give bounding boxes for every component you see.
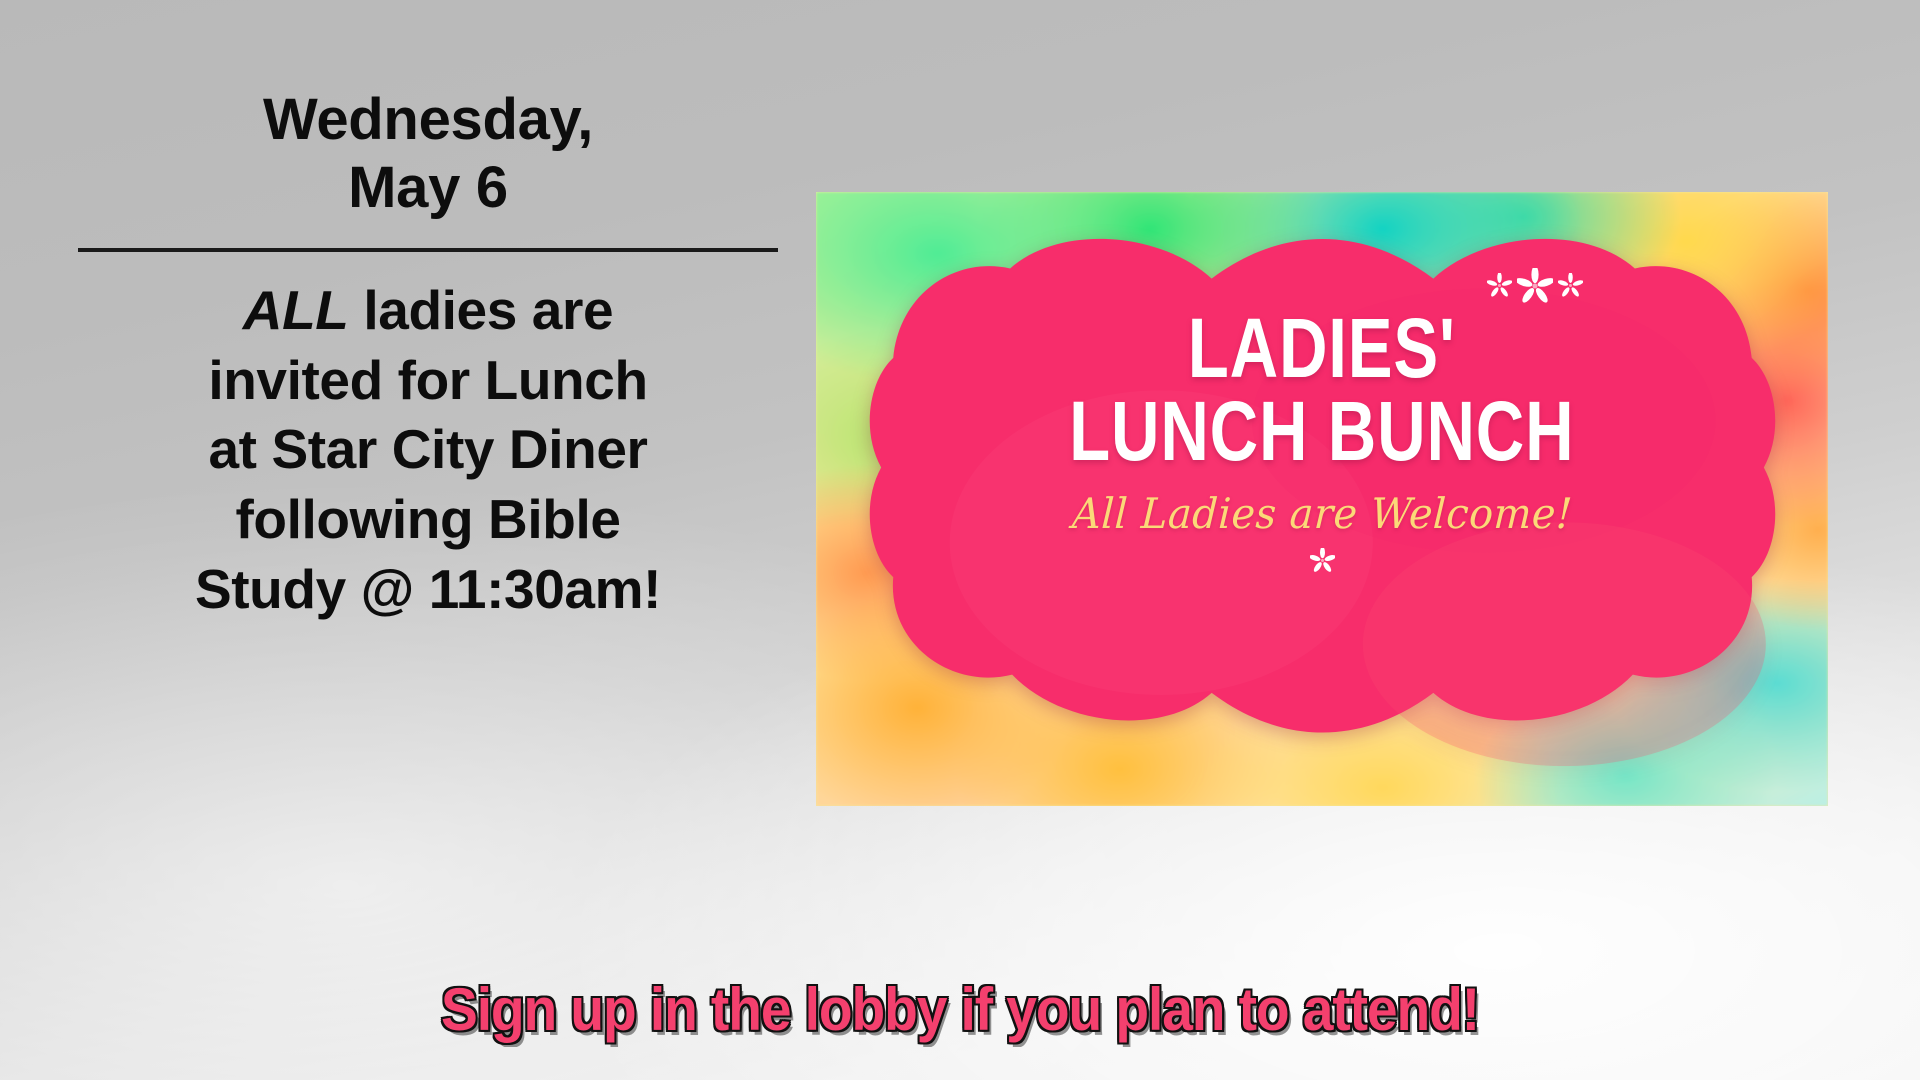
invitation-line-3: at Star City Diner [78, 415, 778, 485]
poster-content: LADIES' LUNCH BUNCH All Ladies are Welco… [816, 192, 1828, 806]
ladies-lunch-bunch-poster: LADIES' LUNCH BUNCH All Ladies are Welco… [816, 192, 1828, 806]
invitation-line-5: Study @ 11:30am! [78, 555, 778, 625]
poster-title: LADIES' LUNCH BUNCH [1006, 308, 1638, 473]
invitation-line-2: invited for Lunch [78, 346, 778, 416]
horizontal-divider [78, 248, 778, 252]
event-date: Wednesday, May 6 [78, 86, 778, 222]
event-date-line-1: Wednesday, [78, 86, 778, 154]
invitation-emphasis-all: ALL [243, 279, 349, 341]
three-flowers-decoration [1487, 268, 1583, 304]
poster-subtitle: All Ladies are Welcome! [1071, 489, 1574, 538]
invitation-line-1: ALL ladies are [78, 276, 778, 346]
invitation-line-4: following Bible [78, 485, 778, 555]
single-flower-decoration [1310, 548, 1335, 573]
flower-icon [1517, 268, 1553, 304]
invitation-line-1-rest: ladies are [349, 279, 614, 341]
invitation-text: ALL ladies are invited for Lunch at Star… [78, 276, 778, 625]
flower-icon [1310, 548, 1335, 573]
flower-icon [1558, 273, 1583, 298]
event-date-line-2: May 6 [78, 154, 778, 222]
signup-call-to-action: Sign up in the lobby if you plan to atte… [77, 975, 1843, 1044]
poster-title-line-1: LADIES' [1069, 308, 1574, 389]
flower-icon [1487, 273, 1512, 298]
announcement-text-column: Wednesday, May 6 ALL ladies are invited … [78, 86, 778, 625]
poster-title-line-2: LUNCH BUNCH [1069, 391, 1574, 472]
